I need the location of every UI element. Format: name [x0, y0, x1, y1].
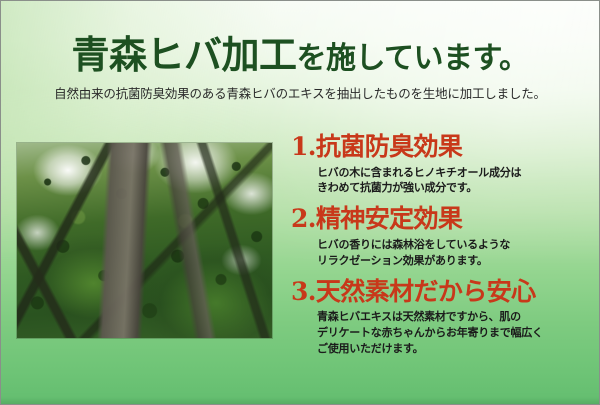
benefit-number: 1. — [291, 132, 316, 161]
forest-photo-image — [17, 143, 272, 338]
benefit-body-line: リラクゼーション効果があります。 — [317, 253, 591, 269]
background-bottom-edge — [1, 397, 599, 404]
page-subtitle: 自然由来の抗菌防臭効果のある青森ヒバのエキスを抽出したものを生地に加工しました。 — [1, 75, 599, 101]
benefit-heading: 3.天然素材だから安心 — [291, 278, 591, 307]
benefit-body: ヒバの木に含まれるヒノキチオール成分は きわめて抗菌力が強い成分です。 — [291, 165, 591, 197]
benefit-body-line: デリケートな赤ちゃんからお年寄りまで幅広く — [317, 325, 591, 341]
list-item: 1.抗菌防臭効果 ヒバの木に含まれるヒノキチオール成分は きわめて抗菌力が強い成… — [291, 133, 591, 196]
benefit-body-line: 青森ヒバエキスは天然素材ですから、肌の — [317, 309, 591, 325]
benefit-number: 3. — [291, 277, 316, 306]
page-title-main: 青森ヒバ加工 — [71, 32, 296, 77]
page-title-tail: を施しています。 — [296, 41, 528, 76]
benefits-list: 1.抗菌防臭効果 ヒバの木に含まれるヒノキチオール成分は きわめて抗菌力が強い成… — [291, 133, 591, 362]
page-title: 青森ヒバ加工を施しています。 — [1, 1, 599, 75]
benefit-heading: 2.精神安定効果 — [291, 205, 591, 234]
forest-photo — [17, 143, 272, 338]
benefit-body: 青森ヒバエキスは天然素材ですから、肌の デリケートな赤ちゃんからお年寄りまで幅広… — [291, 309, 591, 357]
benefit-body-line: ヒバの木に含まれるヒノキチオール成分は — [317, 165, 591, 181]
benefit-title: 精神安定効果 — [316, 204, 462, 233]
list-item: 2.精神安定効果 ヒバの香りには森林浴をしているような リラクゼーション効果があ… — [291, 205, 591, 268]
benefit-heading: 1.抗菌防臭効果 — [291, 133, 591, 162]
benefit-body: ヒバの香りには森林浴をしているような リラクゼーション効果があります。 — [291, 237, 591, 269]
header-block: 青森ヒバ加工を施しています。 自然由来の抗菌防臭効果のある青森ヒバのエキスを抽出… — [1, 1, 599, 101]
promo-banner: 青森ヒバ加工を施しています。 自然由来の抗菌防臭効果のある青森ヒバのエキスを抽出… — [0, 0, 600, 405]
benefit-body-line: きわめて抗菌力が強い成分です。 — [317, 180, 591, 196]
list-item: 3.天然素材だから安心 青森ヒバエキスは天然素材ですから、肌の デリケートな赤ち… — [291, 278, 591, 357]
benefit-body-line: ヒバの香りには森林浴をしているような — [317, 237, 591, 253]
benefit-number: 2. — [291, 204, 316, 233]
benefit-body-line: ご使用いただけます。 — [317, 341, 591, 357]
benefit-title: 天然素材だから安心 — [316, 277, 536, 306]
benefit-title: 抗菌防臭効果 — [316, 132, 462, 161]
